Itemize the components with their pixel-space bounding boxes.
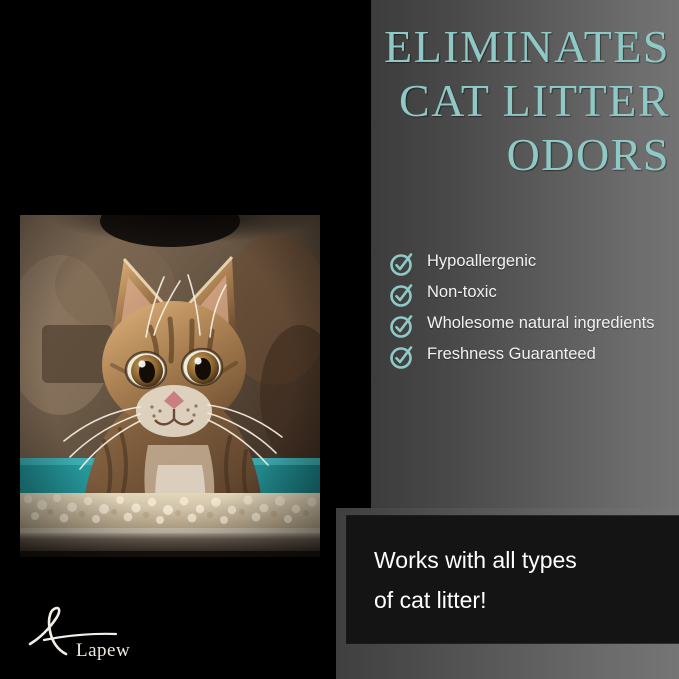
kitten-photo-illustration xyxy=(20,215,320,557)
headline: ELIMINATES CAT LITTER ODORS xyxy=(270,20,670,182)
feature-label: Hypoallergenic xyxy=(427,250,536,273)
headline-line-2: CAT LITTER xyxy=(270,74,670,128)
headline-line-1: ELIMINATES xyxy=(270,20,670,74)
list-item: Non-toxic xyxy=(389,281,675,308)
check-circle-icon xyxy=(389,344,415,370)
list-item: Hypoallergenic xyxy=(389,250,675,277)
check-circle-icon xyxy=(389,313,415,339)
feature-label: Non-toxic xyxy=(427,281,497,304)
feature-list: Hypoallergenic Non-toxic Wholesome natur… xyxy=(389,250,675,374)
feature-label: Freshness Guaranteed xyxy=(427,343,596,366)
callout-box: Works with all types of cat litter! xyxy=(347,516,679,643)
kitten-litter-box-photo xyxy=(20,215,320,557)
check-circle-icon xyxy=(389,251,415,277)
callout-line-1: Works with all types xyxy=(374,540,664,580)
list-item: Freshness Guaranteed xyxy=(389,343,675,370)
list-item: Wholesome natural ingredients xyxy=(389,312,675,339)
check-circle-icon xyxy=(389,282,415,308)
feature-label: Wholesome natural ingredients xyxy=(427,312,654,335)
logo-wordmark: Lapew xyxy=(76,640,130,662)
headline-line-3: ODORS xyxy=(270,128,670,182)
callout-text: Works with all types of cat litter! xyxy=(374,540,664,620)
brand-logo: Lapew xyxy=(26,604,156,662)
product-poster: ELIMINATES CAT LITTER ODORS xyxy=(0,0,679,679)
callout-line-2: of cat litter! xyxy=(374,580,664,620)
